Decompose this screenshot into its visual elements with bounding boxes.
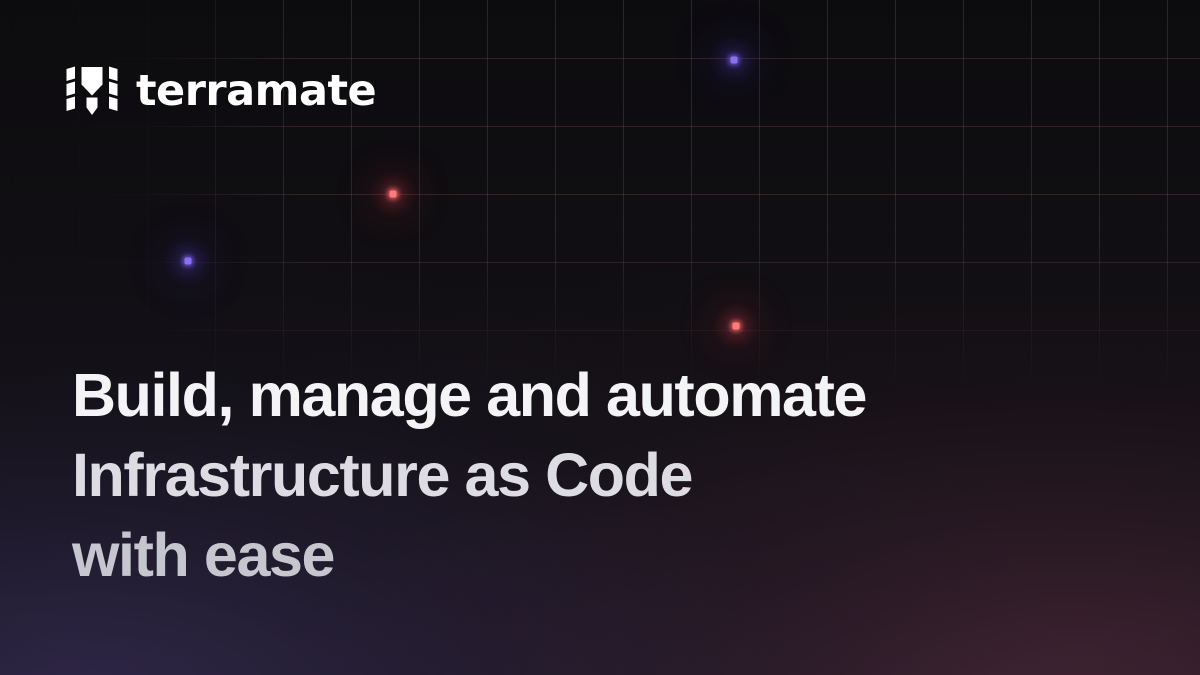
brand-name: terramate xyxy=(136,70,376,113)
brand-logo[interactable]: terramate xyxy=(66,62,376,120)
headline-line-3: with ease xyxy=(72,515,1072,595)
glow-dot-red-center xyxy=(733,323,740,330)
headline-line-2: Infrastructure as Code xyxy=(72,435,1072,515)
glow-dot-purple-top xyxy=(731,57,738,64)
glow-dot-red-left xyxy=(390,191,397,198)
glow-dot-purple-left xyxy=(185,258,192,265)
page-title: Build, manage and automate Infrastructur… xyxy=(72,355,1072,595)
headline-line-1: Build, manage and automate xyxy=(72,355,1072,435)
terramate-wolf-mark-icon xyxy=(66,62,118,120)
hero-banner: terramate Build, manage and automate Inf… xyxy=(0,0,1200,675)
